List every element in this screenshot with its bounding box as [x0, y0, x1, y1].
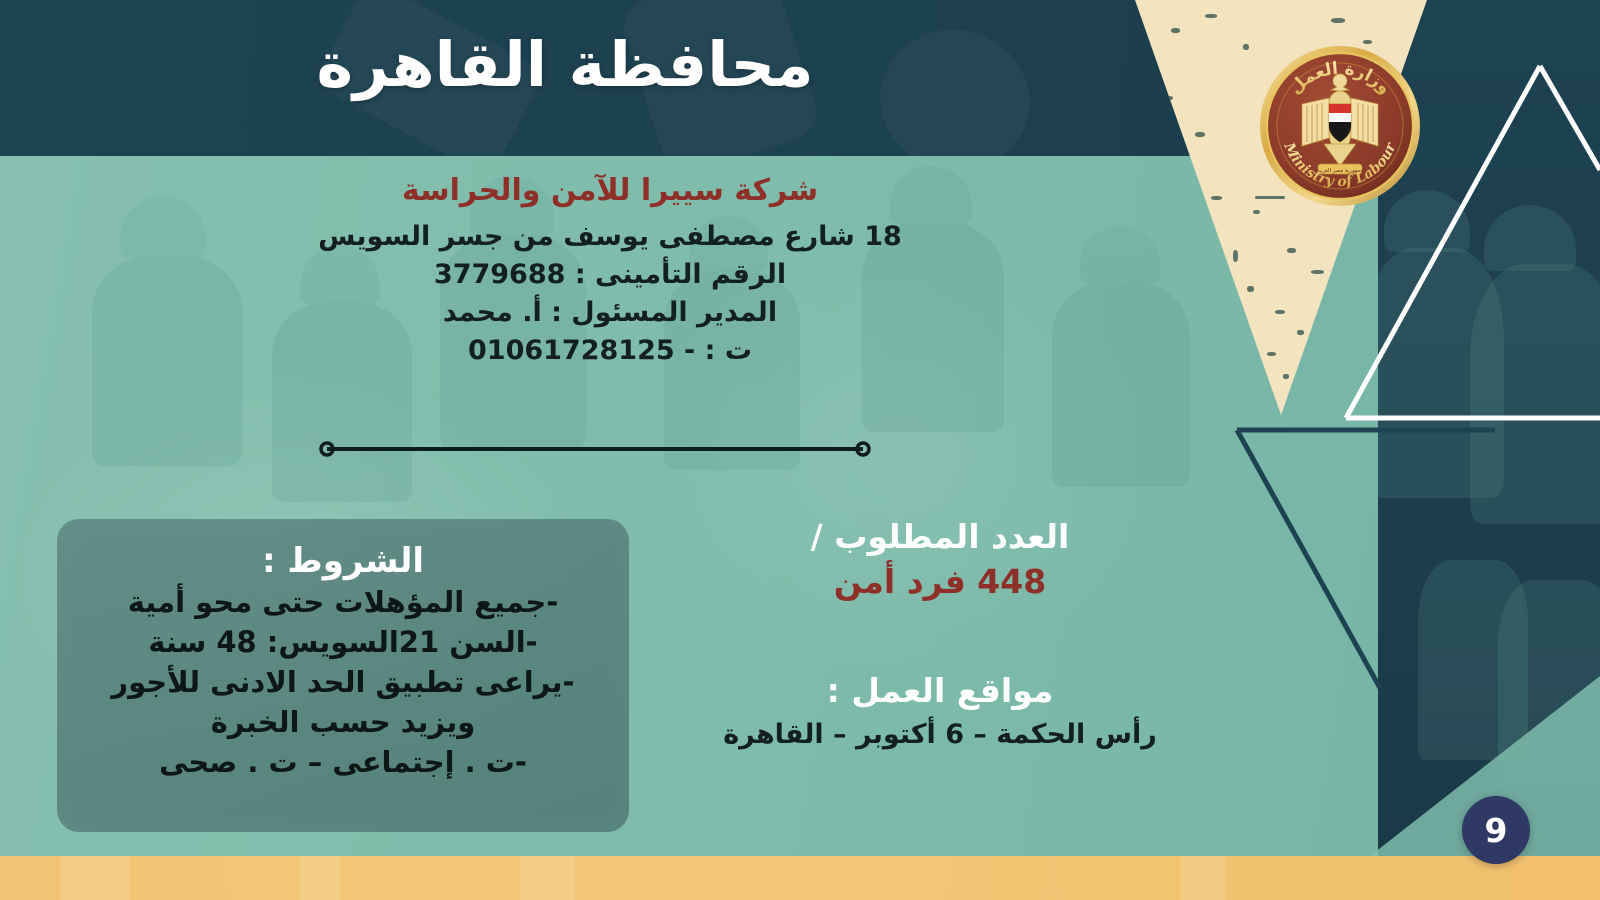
- required-count-value: 448 فرد أمن: [690, 561, 1190, 604]
- company-name: شركة سييرا للآمن والحراسة: [300, 172, 920, 210]
- required-count-label: العدد المطلوب /: [690, 516, 1190, 557]
- company-address: 18 شارع مصطفى يوسف من جسر السويس: [300, 218, 920, 256]
- work-sites-label: مواقع العمل :: [690, 670, 1190, 711]
- panel-figure: [1484, 205, 1576, 271]
- condition-item: -يراعى تطبيق الحد الادنى للأجور: [57, 662, 629, 702]
- panel-figure: [1470, 264, 1600, 524]
- job-info-column: العدد المطلوب / 448 فرد أمن مواقع العمل …: [690, 516, 1190, 752]
- ministry-of-labour-logo: جمهورية مصر العربية وزارة العمل Ministry…: [1258, 44, 1422, 208]
- condition-item: -ت . إجتماعى – ت . صحى: [57, 742, 629, 782]
- work-sites-value: رأس الحكمة – 6 أكتوبر – القاهرة: [690, 717, 1190, 752]
- page-number-badge: 9: [1462, 796, 1530, 864]
- page-title: محافظة القاهرة: [0, 34, 1130, 96]
- bottom-accent-strip: [0, 856, 1600, 900]
- condition-item: -السن 21السويس: 48 سنة: [57, 622, 629, 662]
- company-contact-block: شركة سييرا للآمن والحراسة 18 شارع مصطفى …: [300, 172, 920, 371]
- conditions-title: الشروط :: [57, 541, 629, 582]
- condition-item: -جميع المؤهلات حتى محو أمية: [57, 582, 629, 622]
- conditions-box: الشروط : -جميع المؤهلات حتى محو أمية -ال…: [57, 519, 629, 832]
- section-divider: [318, 440, 872, 458]
- insurance-number: الرقم التأمينى : 3779688: [300, 256, 920, 294]
- responsible-manager: المدير المسئول : أ. محمد: [300, 294, 920, 332]
- slide: محافظة القاهرة: [0, 0, 1600, 900]
- condition-item: ويزيد حسب الخبرة: [57, 702, 629, 742]
- phone-number: ت : - 01061728125: [300, 332, 920, 370]
